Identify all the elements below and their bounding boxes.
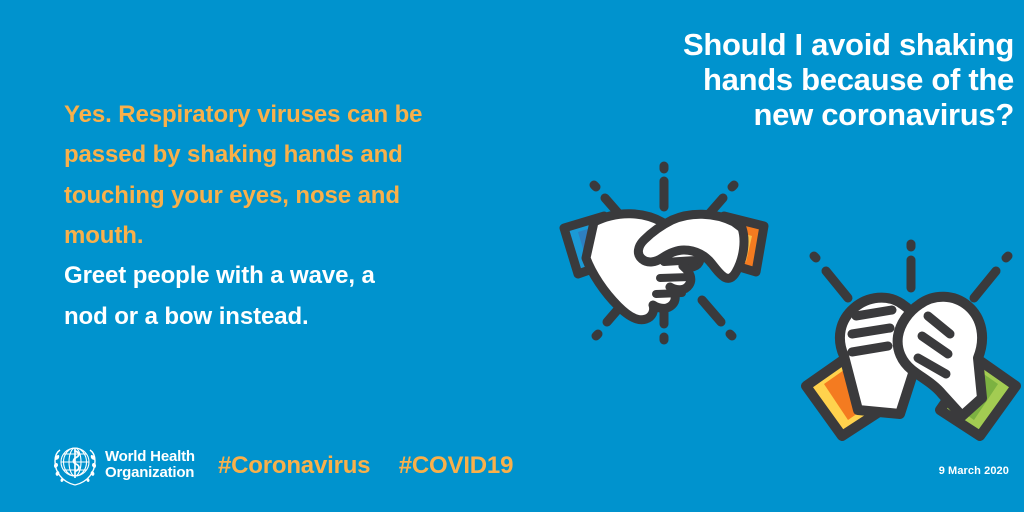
advice-line-1: Greet people with a wave, a <box>64 262 375 289</box>
headline-line-3: new coronavirus? <box>584 97 1014 132</box>
who-logo: World Health Organization <box>52 442 195 488</box>
footer: World Health Organization #Coronavirus #… <box>0 437 1024 512</box>
headline-line-2: hands because of the <box>584 62 1014 97</box>
page-title: Should I avoid shaking hands because of … <box>584 27 1014 132</box>
answer-line-1: Yes. Respiratory viruses can be <box>64 101 422 128</box>
headline-line-1: Should I avoid shaking <box>584 27 1014 62</box>
clasp-rays-top <box>814 244 1008 298</box>
who-emblem-icon <box>52 442 98 488</box>
who-coronavirus-poster: Should I avoid shaking hands because of … <box>0 0 1024 512</box>
advice-line-2: nod or a bow instead. <box>64 303 309 330</box>
clasped-hands-illustration <box>796 238 1024 443</box>
answer-line-3: touching your eyes, nose and <box>64 182 400 209</box>
who-logo-line-2: Organization <box>105 465 195 481</box>
body-copy: Yes. Respiratory viruses can be passed b… <box>64 95 534 337</box>
hashtags: #Coronavirus #COVID19 <box>218 452 535 480</box>
handshake-illustration <box>556 150 786 350</box>
hashtag-coronavirus[interactable]: #Coronavirus <box>218 452 370 479</box>
who-logo-text: World Health Organization <box>105 449 195 481</box>
who-logo-line-1: World Health <box>105 449 195 465</box>
answer-line-4: mouth. <box>64 222 143 249</box>
answer-paragraph: Yes. Respiratory viruses can be passed b… <box>64 95 534 256</box>
hashtag-covid19[interactable]: #COVID19 <box>399 452 513 479</box>
advice-paragraph: Greet people with a wave, a nod or a bow… <box>64 256 534 337</box>
answer-line-2: passed by shaking hands and <box>64 141 403 168</box>
date-stamp: 9 March 2020 <box>939 465 1009 477</box>
